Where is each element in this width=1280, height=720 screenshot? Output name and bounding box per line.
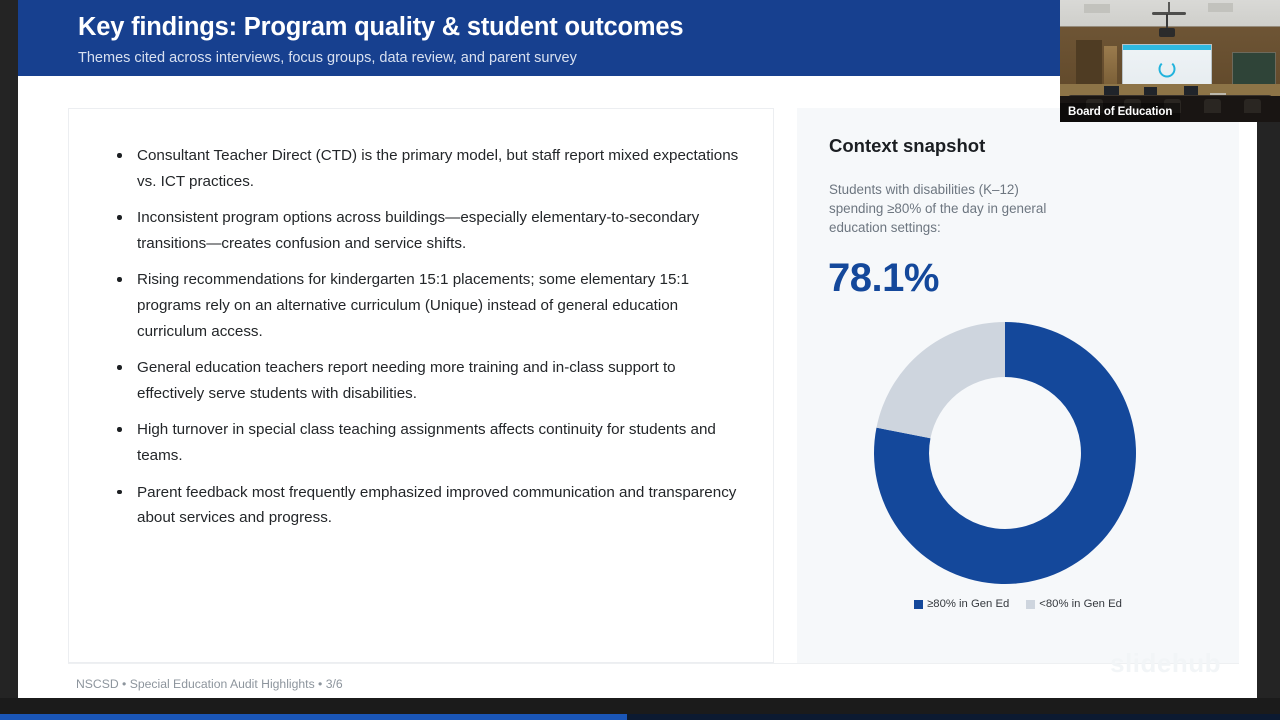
door-icon [1076, 40, 1102, 88]
donut-chart [865, 313, 1145, 593]
projected-logo-icon [1159, 60, 1176, 77]
legend-swatch-lt80 [1026, 600, 1035, 609]
context-snapshot-stat: 78.1% [828, 256, 939, 301]
donut-chart-svg [865, 313, 1145, 593]
list-item: High turnover in special class teaching … [116, 417, 745, 468]
key-findings-list: Consultant Teacher Direct (CTD) is the p… [69, 109, 773, 531]
context-snapshot-title: Context snapshot [829, 135, 985, 157]
player-control-bar[interactable] [0, 698, 1280, 714]
list-item: Inconsistent program options across buil… [116, 205, 745, 256]
watermark: slidehub [1110, 648, 1221, 679]
video-player[interactable]: Key findings: Program quality & student … [0, 0, 1280, 720]
list-item: General education teachers report needin… [116, 355, 745, 406]
legend-label-ge80: ≥80% in Gen Ed [927, 598, 1009, 610]
ceiling-vent-icon [1084, 4, 1110, 13]
legend-swatch-ge80 [914, 600, 923, 609]
list-item: Rising recommendations for kindergarten … [116, 267, 745, 344]
legend-label-lt80: <80% in Gen Ed [1039, 598, 1122, 610]
slide-footer: NSCSD • Special Education Audit Highligh… [76, 677, 343, 691]
context-snapshot-panel: Context snapshot Students with disabilit… [797, 108, 1239, 663]
list-item: Parent feedback most frequently emphasiz… [116, 480, 745, 531]
donut-chart-legend: ≥80% in Gen Ed <80% in Gen Ed [797, 598, 1239, 610]
speaker-camera-thumbnail[interactable]: Board of Education [1060, 0, 1280, 122]
wall-poster-icon [1104, 46, 1117, 84]
projector-mount-icon [1166, 14, 1168, 29]
donut-slice [876, 322, 1005, 438]
chair-icon [1244, 99, 1261, 113]
speaker-caption: Board of Education [1060, 103, 1180, 122]
video-progress-track[interactable] [0, 714, 1280, 720]
list-item: Consultant Teacher Direct (CTD) is the p… [116, 143, 745, 194]
ceiling-fan-blades-icon [1152, 12, 1186, 15]
footer-divider [68, 663, 1239, 664]
video-progress-fill [0, 714, 627, 720]
projector-icon [1159, 28, 1175, 37]
slide-subtitle: Themes cited across interviews, focus gr… [78, 50, 577, 66]
ceiling-vent-icon [1208, 3, 1233, 12]
context-snapshot-description: Students with disabilities (K–12) spendi… [829, 180, 1059, 237]
donut-slices [874, 322, 1136, 584]
key-findings-card: Consultant Teacher Direct (CTD) is the p… [68, 108, 774, 663]
page-title: Key findings: Program quality & student … [78, 13, 683, 42]
legend-entry-lt80: <80% in Gen Ed [1026, 598, 1122, 610]
projected-slide-band [1123, 45, 1211, 50]
legend-entry-ge80: ≥80% in Gen Ed [914, 598, 1009, 610]
chair-icon [1204, 99, 1221, 113]
